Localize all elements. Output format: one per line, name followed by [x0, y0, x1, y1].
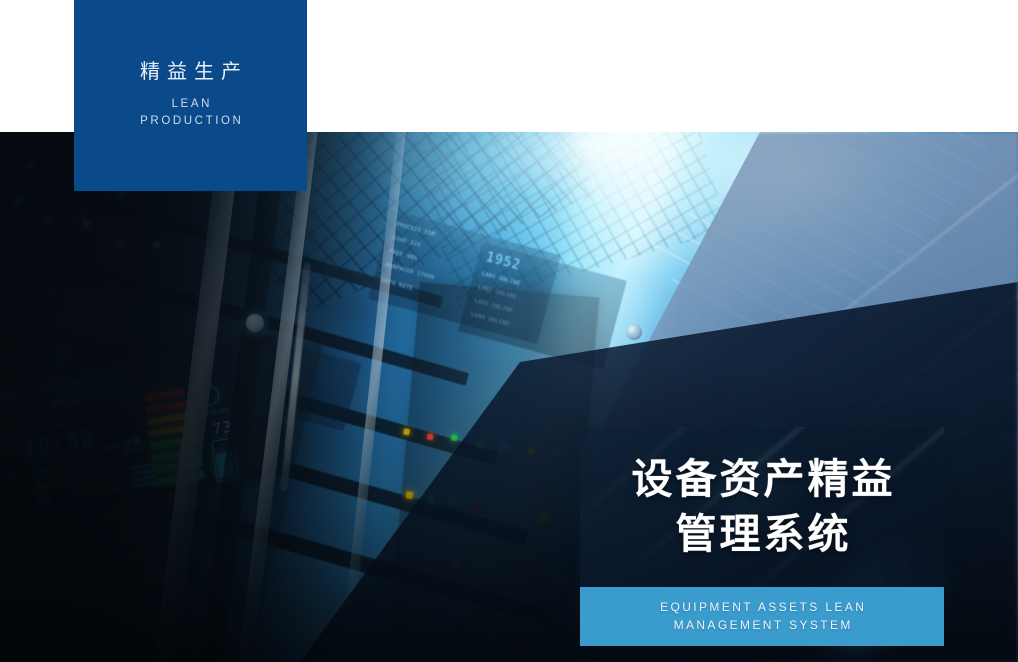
poster-canvas: PROCESS SSM LOAD 32% FREE 48% NONPAGED 1…	[0, 0, 1018, 662]
lean-badge-chinese: 精益生产	[133, 62, 248, 82]
main-subtitle-line1: EQUIPMENT ASSETS LEAN	[658, 599, 867, 616]
main-title-block: 设备资产精益 管理系统 EQUIPMENT ASSETS LEAN MANAGE…	[580, 427, 944, 646]
lean-badge-english-line1: LEAN	[138, 96, 244, 112]
main-subtitle-line2: MANAGEMENT SYSTEM	[671, 617, 853, 634]
main-title-line2: 管理系统	[673, 507, 852, 562]
main-subtitle-bar: EQUIPMENT ASSETS LEAN MANAGEMENT SYSTEM	[580, 587, 944, 646]
lean-production-badge: 精益生产 LEAN PRODUCTION	[74, 0, 307, 191]
lean-badge-english-line2: PRODUCTION	[138, 113, 244, 129]
lean-badge-english: LEAN PRODUCTION	[138, 96, 244, 129]
main-title-panel: 设备资产精益 管理系统	[580, 427, 944, 587]
main-title-line1: 设备资产精益	[629, 452, 896, 507]
